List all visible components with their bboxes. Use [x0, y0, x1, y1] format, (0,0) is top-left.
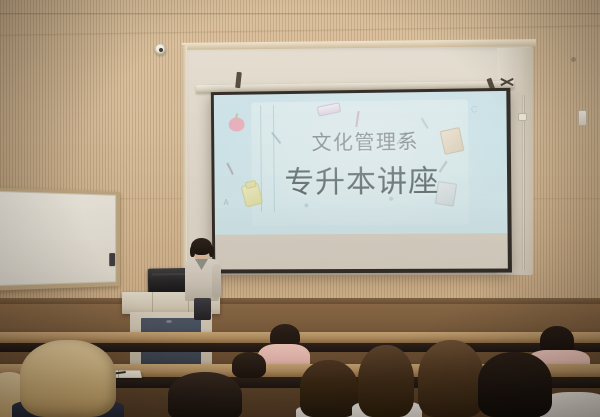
presenter-arm [212, 264, 221, 298]
presenter [182, 238, 222, 318]
whiteboard-clip [109, 253, 115, 266]
audience-head [168, 372, 242, 417]
wall-plate [578, 110, 587, 126]
slide-title-line-2: 专升本讲座 [284, 156, 439, 201]
wall-screw [571, 57, 576, 62]
audience-head [478, 352, 552, 417]
podium-highlight [166, 320, 172, 323]
podium-seam [152, 292, 153, 314]
presenter-lower-body [194, 298, 211, 320]
audience-head [20, 340, 116, 417]
ceiling-sensor-icon [155, 44, 166, 55]
screen-surface: A C 文化管理系 专升本讲座 [214, 91, 508, 270]
pull-rod-knob [518, 113, 527, 121]
whiteboard-frame [0, 187, 120, 292]
presenter-hair-sides [190, 246, 214, 258]
audience-head [418, 340, 484, 417]
projection-screen: A C 文化管理系 专升本讲座 [211, 88, 512, 274]
slide-title-block: 文化管理系 专升本讲座 [214, 91, 508, 235]
lecture-hall-photo: A C 文化管理系 专升本讲座 [0, 0, 600, 417]
whiteboard-surface [0, 190, 116, 287]
screen-bracket-x-icon [500, 76, 514, 88]
audience-head [300, 360, 358, 417]
screen-pull-rod [522, 95, 525, 270]
projected-slide: A C 文化管理系 专升本讲座 [214, 91, 508, 235]
slide-title-line-1: 文化管理系 [311, 125, 419, 155]
audience-head [358, 345, 414, 417]
desk-row-front [0, 332, 600, 343]
audience-head [232, 352, 266, 378]
